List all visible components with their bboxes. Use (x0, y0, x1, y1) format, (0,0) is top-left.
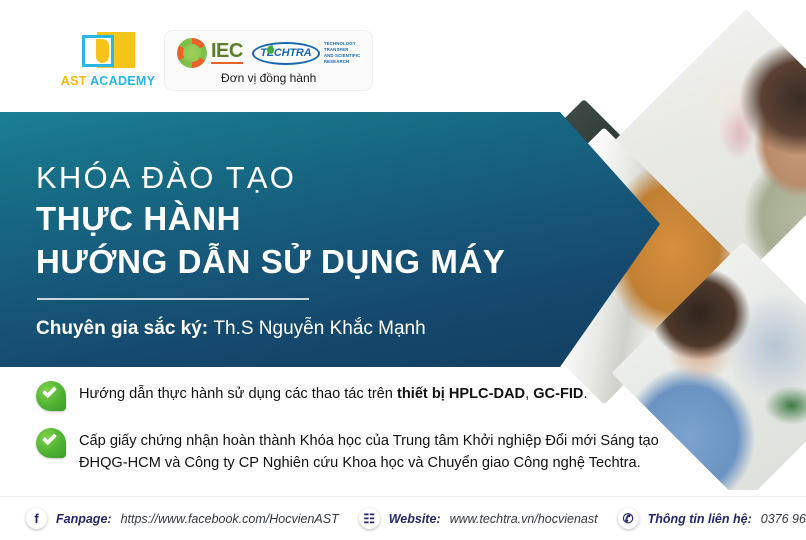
phone-icon: ✆ (618, 508, 639, 529)
ast-academy-wordmark: AST ACADEMY (61, 74, 156, 88)
partner-logos: IEC TECHTRA TECHNOLOGY TRANSFER AND SCIE… (177, 38, 360, 68)
techtra-tagline: TECHNOLOGY TRANSFER AND SCIENTIFIC RESEA… (324, 41, 361, 64)
green-check-icon (36, 428, 66, 458)
academy-word: ACADEMY (90, 74, 155, 88)
iec-pinwheel-mark-icon (177, 38, 207, 68)
globe-icon: ☷ (359, 508, 380, 529)
bullet-text: Hướng dẫn thực hành sử dụng các thao tác… (79, 381, 588, 406)
facebook-icon: f (26, 508, 47, 529)
fanpage-url[interactable]: https://www.facebook.com/HocvienAST (121, 512, 339, 526)
footer-fanpage[interactable]: f Fanpage: https://www.facebook.com/Hocv… (26, 508, 339, 529)
banner-divider (37, 298, 309, 300)
banner-title-line2: HƯỚNG DẪN SỬ DỤNG MÁY (36, 243, 506, 281)
speaker-name: Th.S Nguyễn Khắc Mạnh (213, 318, 425, 339)
ast-square-leaf-mark-icon (79, 30, 137, 70)
green-check-icon (36, 381, 66, 411)
contact-number[interactable]: 0376 968 518 (761, 512, 806, 526)
bullet-item: Hướng dẫn thực hành sử dụng các thao tác… (36, 381, 696, 411)
logo-row: AST ACADEMY IEC TECHTRA TECHNOLOGY TRANS… (62, 30, 373, 91)
partner-logo-box: IEC TECHTRA TECHNOLOGY TRANSFER AND SCIE… (164, 30, 373, 91)
partner-caption: Đơn vị đồng hành (221, 71, 316, 85)
speaker-line: Chuyên gia sắc ký: Th.S Nguyễn Khắc Mạnh (36, 318, 426, 340)
bullet-item: Cấp giấy chứng nhận hoàn thành Khóa học … (36, 428, 696, 474)
footer-bar: f Fanpage: https://www.facebook.com/Hocv… (0, 496, 806, 540)
banner-eyebrow: KHÓA ĐÀO TẠO (36, 160, 296, 196)
bullet-list: Hướng dẫn thực hành sử dụng các thao tác… (36, 381, 696, 491)
website-label: Website: (389, 512, 441, 526)
website-url[interactable]: www.techtra.vn/hocvienast (450, 512, 598, 526)
footer-website[interactable]: ☷ Website: www.techtra.vn/hocvienast (359, 508, 598, 529)
ast-academy-logo: AST ACADEMY (62, 30, 154, 88)
techtra-oval-leaf-mark-icon: TECHTRA (252, 42, 320, 65)
iec-logo: IEC (177, 38, 243, 68)
iec-wordmark: IEC (211, 42, 243, 64)
banner-title-line1: THỰC HÀNH (36, 200, 241, 238)
footer-contact[interactable]: ✆ Thông tin liên hệ: 0376 968 518 (618, 508, 806, 529)
ast-word: AST (61, 74, 87, 88)
header: AST ACADEMY IEC TECHTRA TECHNOLOGY TRANS… (0, 0, 806, 108)
speaker-label: Chuyên gia sắc ký: (36, 318, 208, 339)
bullet-text: Cấp giấy chứng nhận hoàn thành Khóa học … (79, 428, 696, 474)
fanpage-label: Fanpage: (56, 512, 112, 526)
contact-label: Thông tin liên hệ: (648, 512, 752, 526)
techtra-logo: TECHTRA TECHNOLOGY TRANSFER AND SCIENTIF… (252, 41, 361, 64)
